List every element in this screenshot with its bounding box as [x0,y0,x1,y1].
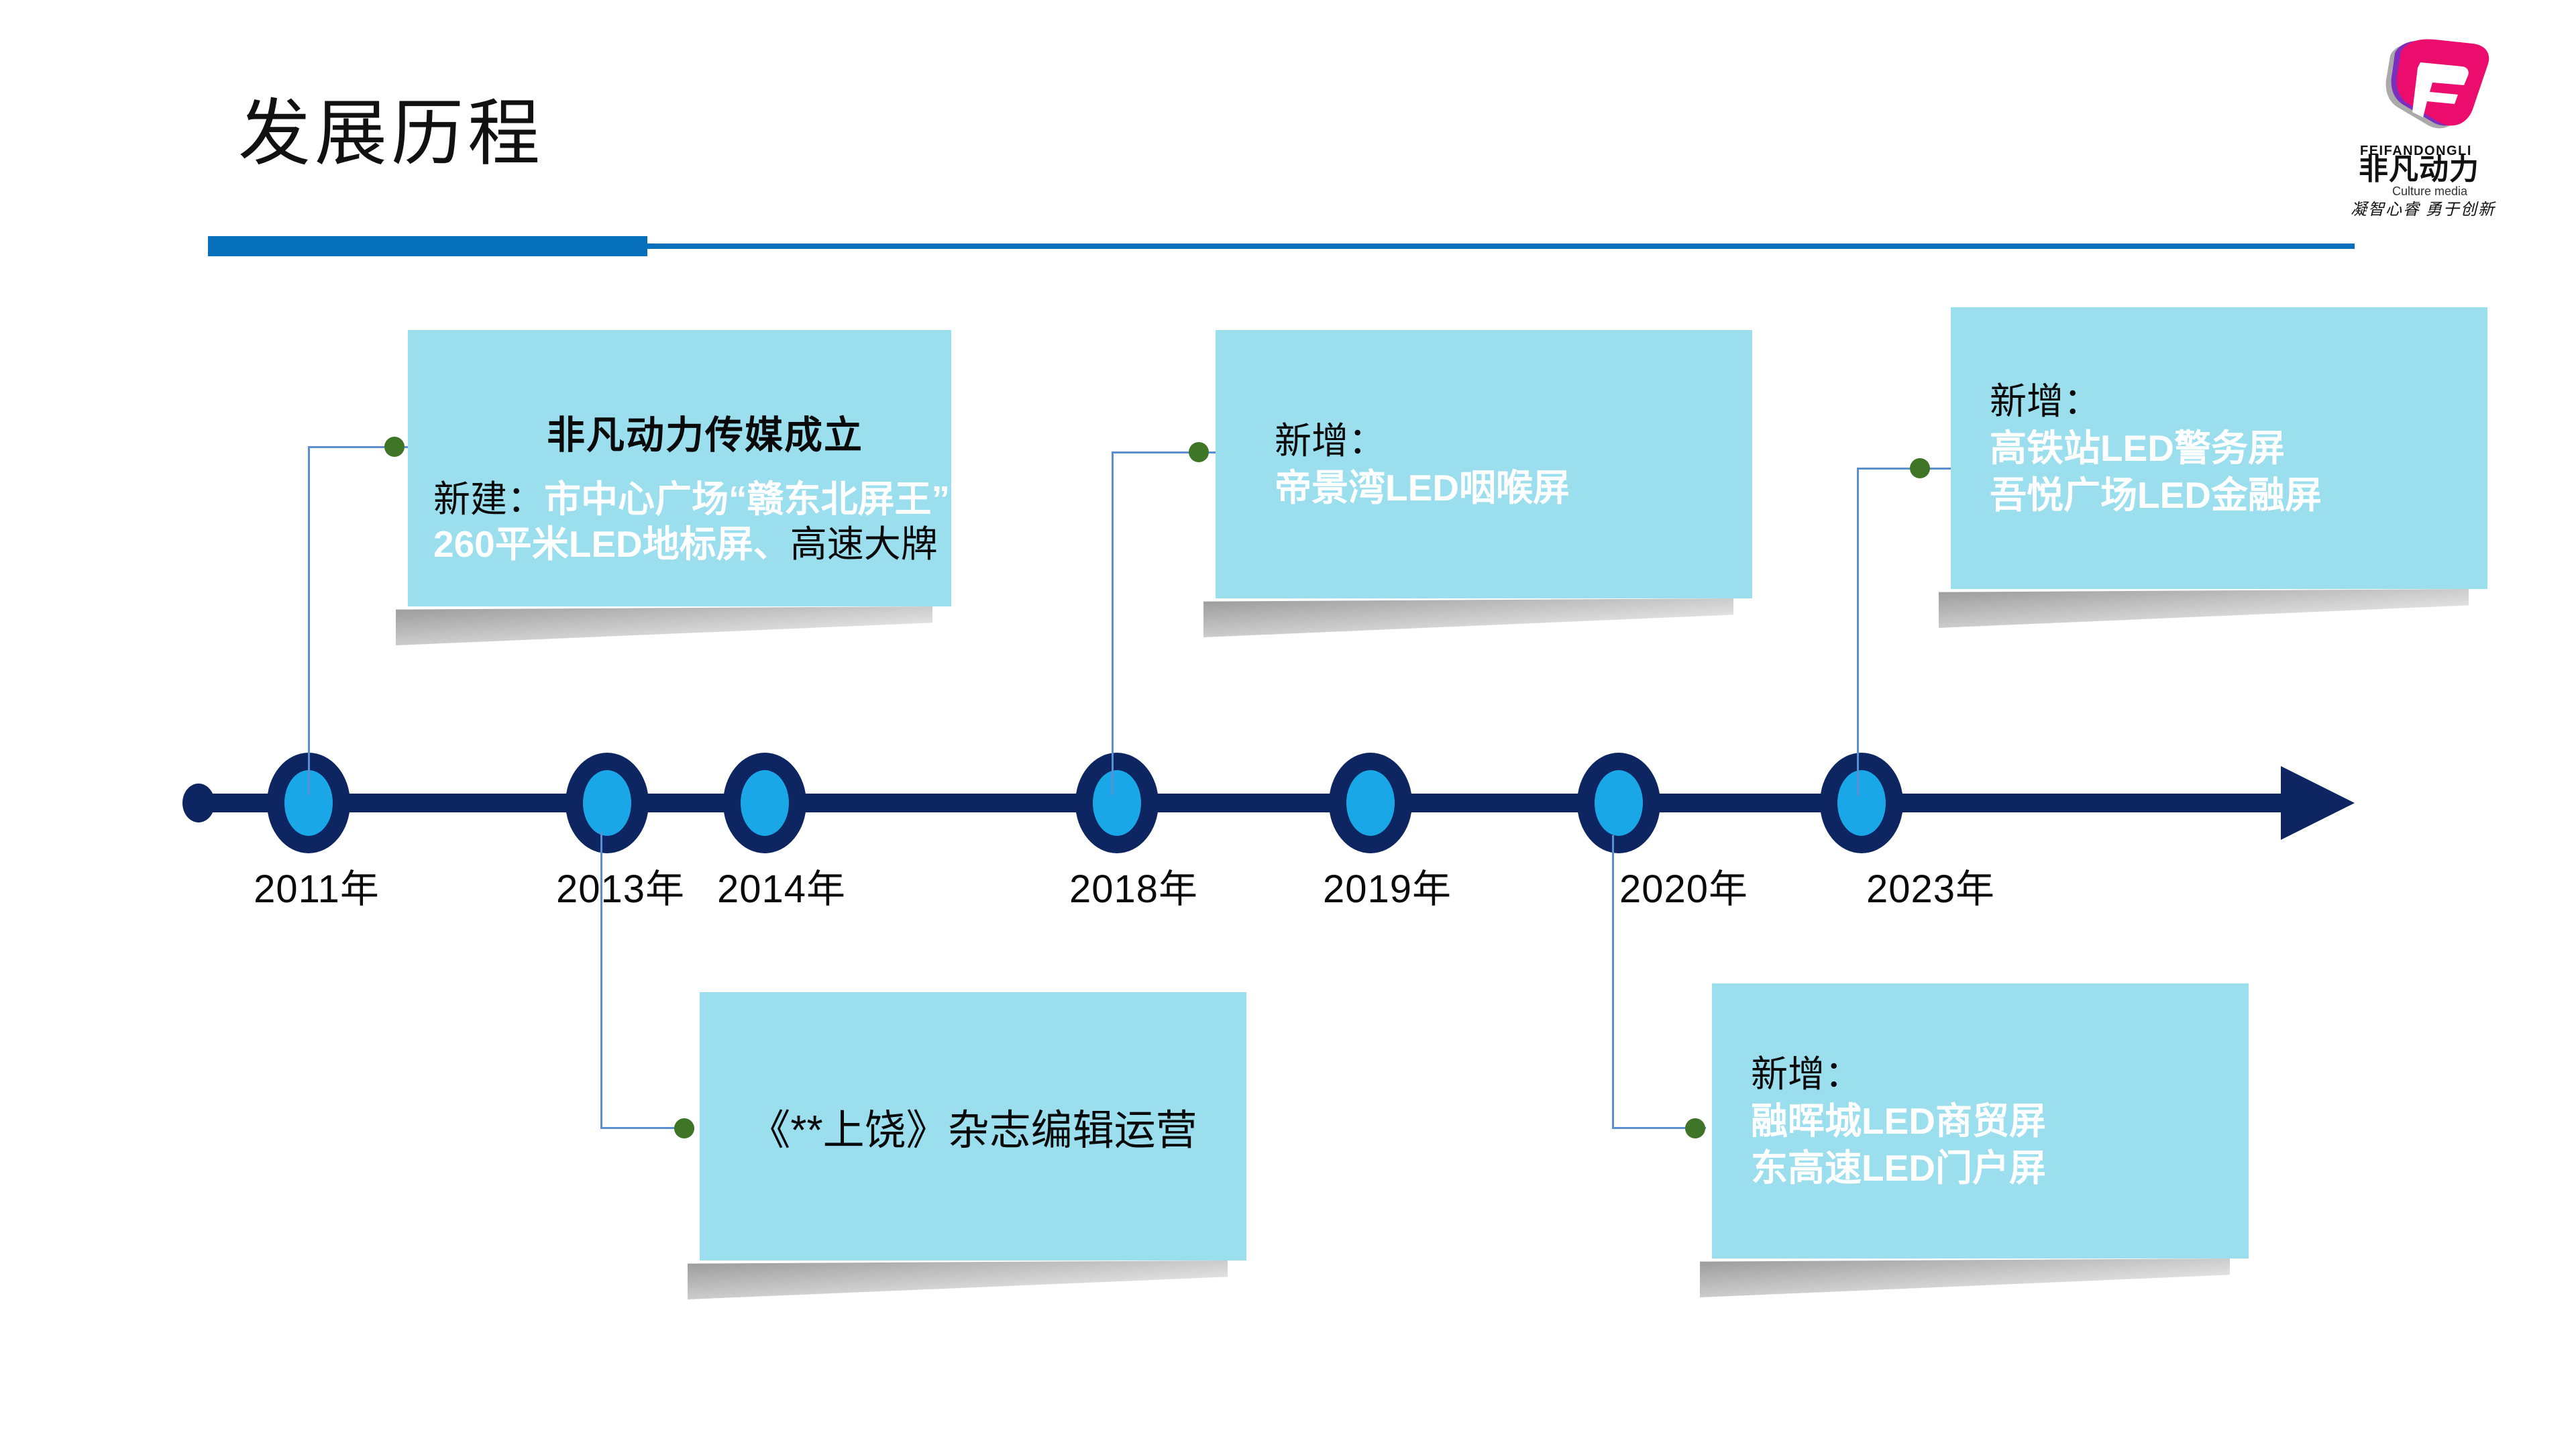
callout-2018-lead: 新增： [1275,417,1811,466]
connector-dot-2013 [674,1118,694,1138]
callout-2023-lead: 新增： [1990,378,2526,426]
title-rule-thick [208,236,647,256]
connector-2011-vertical [308,446,310,795]
callout-2020-line-1: 融晖城LED商贸屏 [1751,1098,2288,1144]
callout-2023-line-1: 高铁站LED警务屏 [1990,425,2526,472]
page-title: 发展历程 [238,94,544,174]
logo-tagline: 凝智心睿 勇于创新 [2351,201,2496,218]
year-label-2023: 2023年 [1866,857,1995,914]
year-label-2014: 2014年 [717,857,846,914]
callout-2011-tail: 高速大牌 [790,523,938,565]
axis-arrow-icon [2281,766,2355,840]
timeline-node-2019[interactable] [1329,753,1412,853]
timeline-node-2014[interactable] [723,753,806,853]
connector-2018-vertical [1112,451,1114,795]
callout-2023-line-2: 吾悦广场LED金融屏 [1990,472,2526,519]
logo-name-cn: 非凡动力 [2359,153,2479,186]
callout-2011-lead: 新建： [433,478,544,520]
slide-canvas: 发展历程 FEIFANDONGLI 非凡动力 Culture media 凝智心… [0,0,2576,1449]
callout-2018-line-1: 帝景湾LED咽喉屏 [1275,465,1811,511]
year-label-2013: 2013年 [556,857,685,914]
connector-dot-2020 [1685,1118,1705,1138]
callout-shadow [1203,598,1733,637]
timeline-node-2018[interactable] [1075,753,1159,853]
connector-2023-horizontal [1857,468,1951,470]
connector-2013-vertical [600,832,602,1128]
timeline-node-2013[interactable] [566,753,649,853]
logo-subtitle: Culture media [2392,184,2468,198]
connector-dot-2011 [384,437,405,457]
callout-2020[interactable]: 新增： 融晖城LED商贸屏 东高速LED门户屏 [1712,983,2249,1258]
connector-2020-vertical [1612,835,1614,1129]
connector-dot-2018 [1189,442,1209,462]
callout-shadow [688,1260,1228,1299]
callout-2020-lead: 新增： [1751,1051,2288,1099]
callout-2011[interactable]: 非凡动力传媒成立 新建：市中心广场“赣东北屏王” 260平米LED地标屏、高速大… [408,330,951,606]
connector-dot-2023 [1910,458,1930,478]
callout-shadow [1700,1258,2230,1297]
callout-2018[interactable]: 新增： 帝景湾LED咽喉屏 [1216,330,1752,598]
connector-2023-vertical [1857,468,1859,796]
callout-shadow [1939,589,2469,628]
company-logo: FEIFANDONGLI 非凡动力 Culture media 凝智心睿 勇于创… [2348,23,2549,218]
year-label-2018: 2018年 [1069,857,1198,914]
timeline-node-2020[interactable] [1577,753,1660,853]
timeline-node-2023[interactable] [1820,753,1903,853]
timeline-axis [191,794,2324,812]
callout-2013-text: 《**上饶》杂志编辑运营 [700,1096,1246,1157]
callout-2013[interactable]: 《**上饶》杂志编辑运营 [700,992,1246,1260]
callout-2023[interactable]: 新增： 高铁站LED警务屏 吾悦广场LED金融屏 [1951,307,2487,589]
year-label-2011: 2011年 [254,857,380,914]
logo-mark-icon [2386,40,2489,129]
title-rule-thin [647,244,2355,249]
callout-2011-heading: 非凡动力传媒成立 [433,405,977,460]
year-label-2020: 2020年 [1619,857,1748,914]
callout-2011-body: 新建：市中心广场“赣东北屏王” 260平米LED地标屏、高速大牌 [433,477,977,567]
year-label-2019: 2019年 [1323,857,1452,914]
callout-2020-line-2: 东高速LED门户屏 [1751,1145,2288,1191]
